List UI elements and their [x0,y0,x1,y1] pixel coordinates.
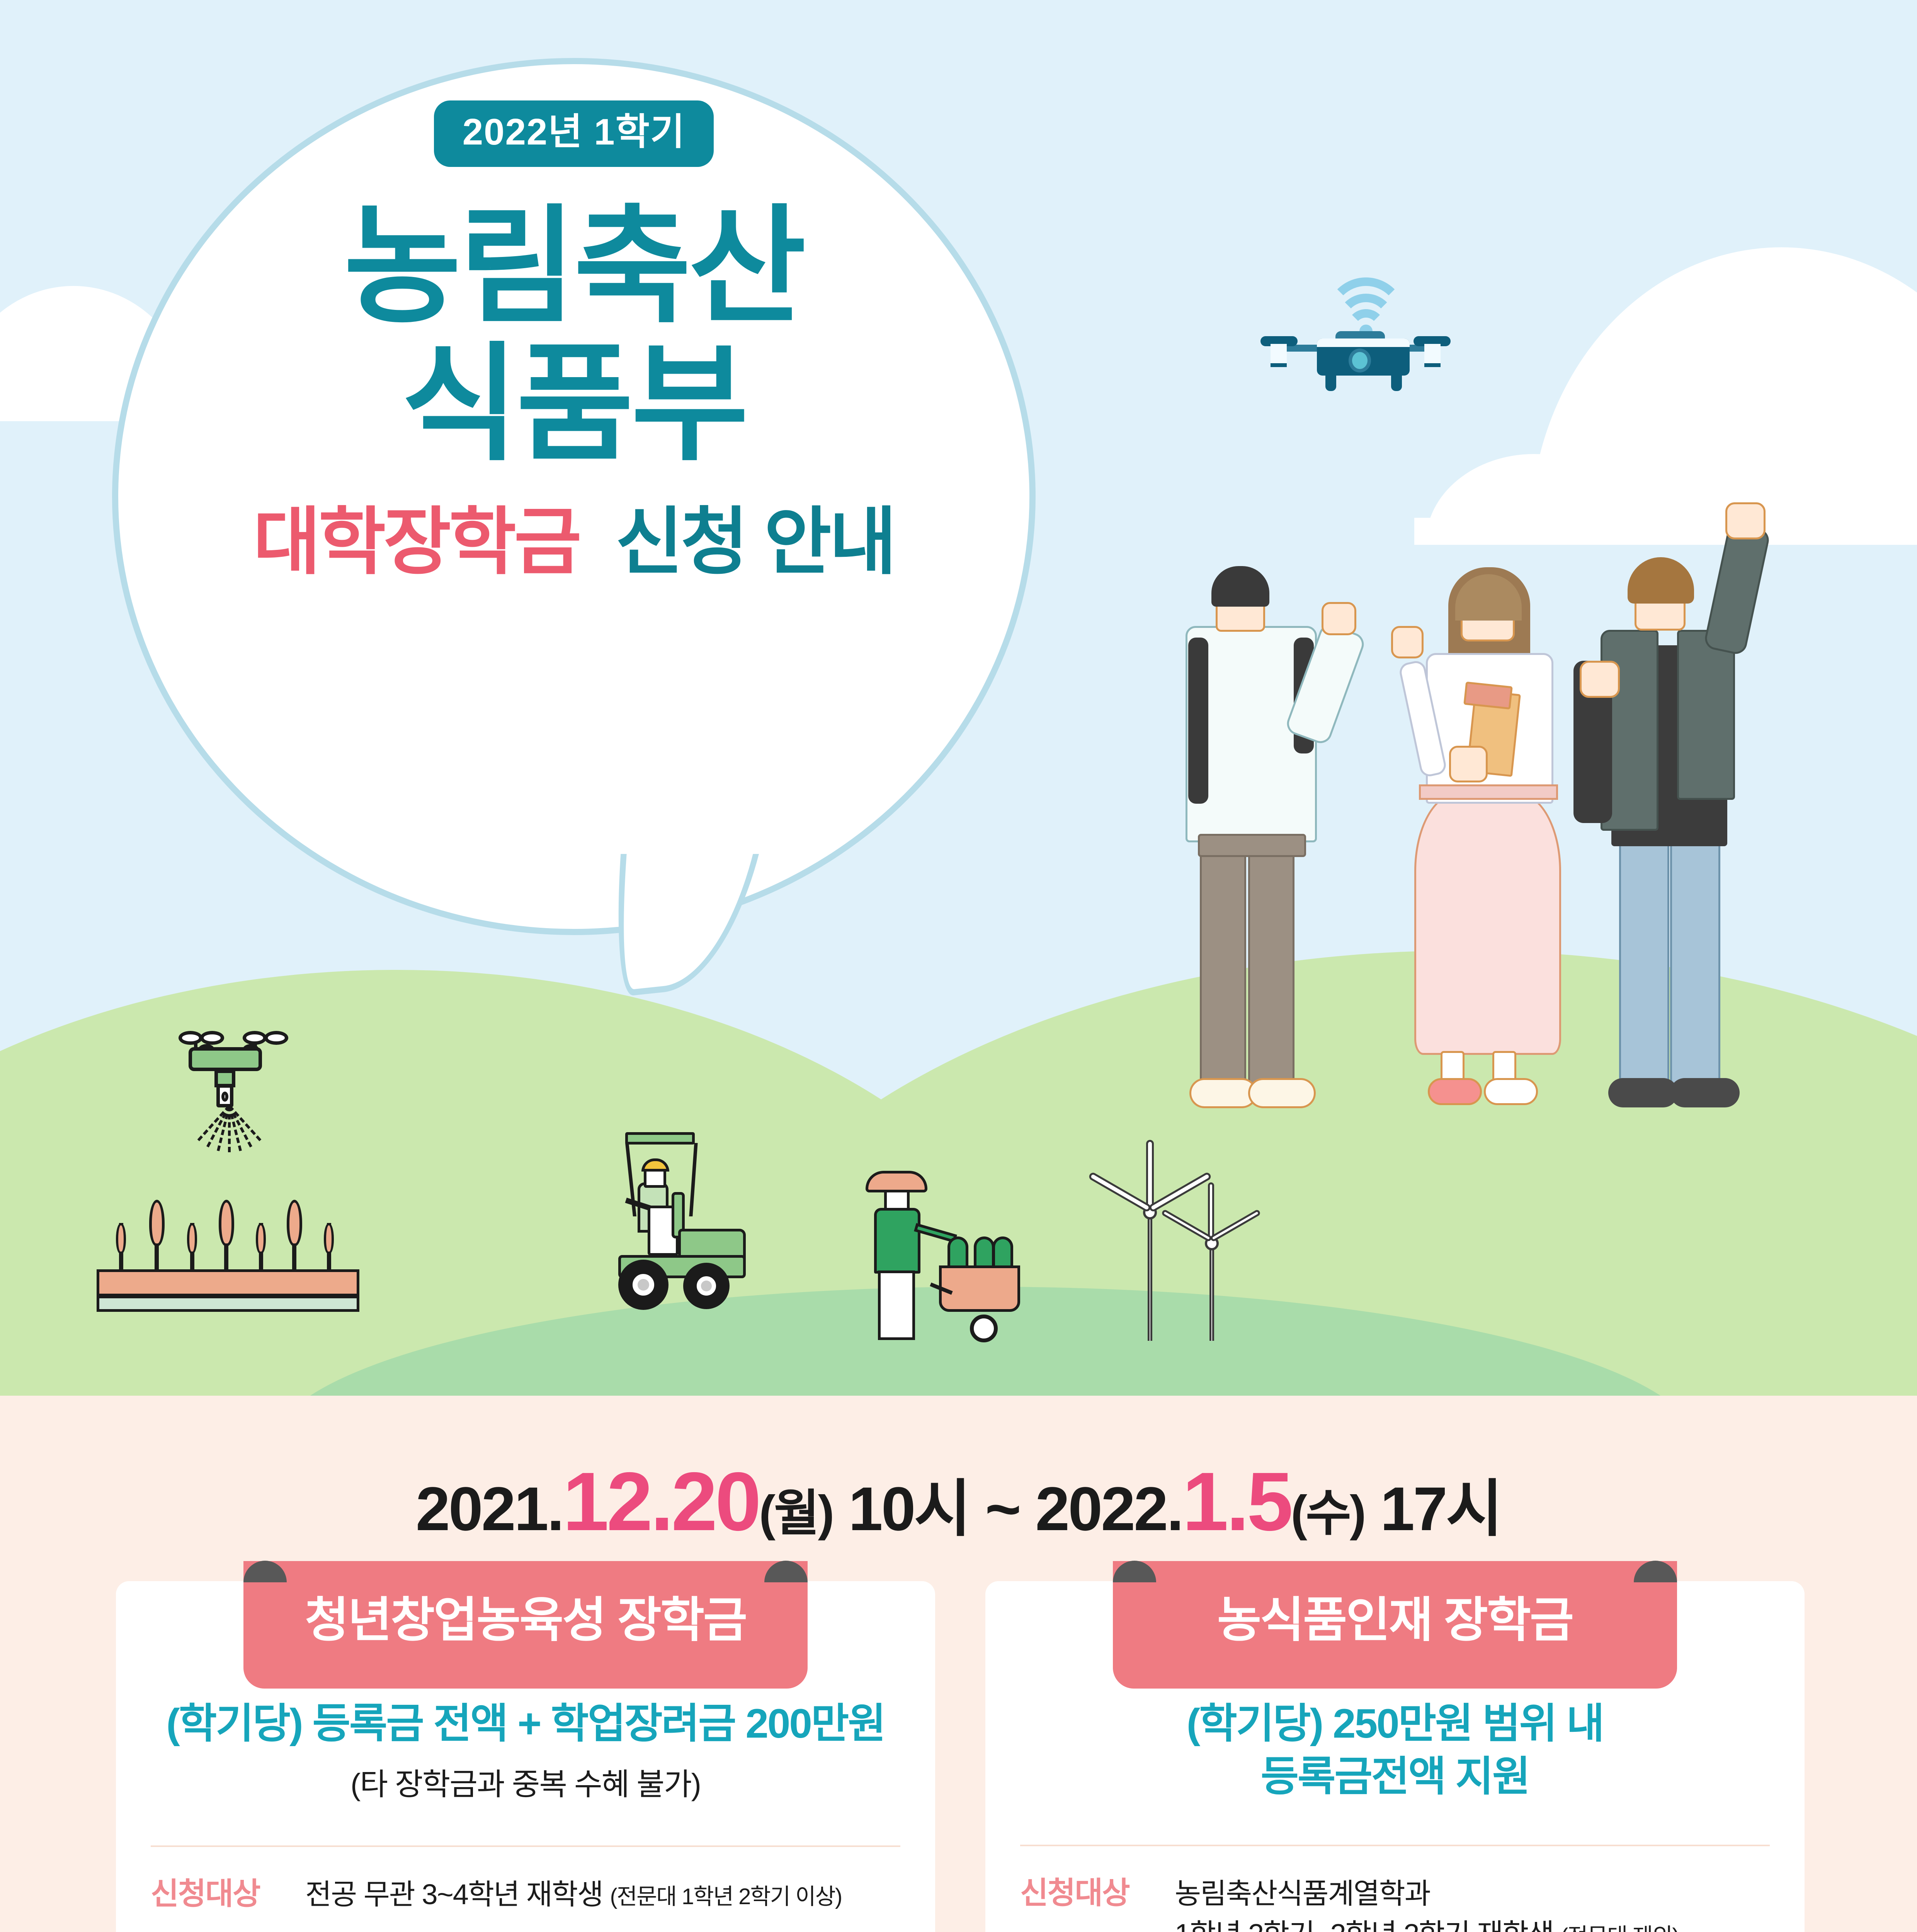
row-value-note: (전문대 1학년 2학기 이상) [610,1884,842,1909]
card-ribbon-title: 농식품인재 장학금 [1113,1561,1677,1689]
row-value-line2: 1학년 2학기~2학년 2학기 재학생 (전문대 제외) [1175,1914,1770,1932]
students-illustration [1121,498,1855,1345]
period-end-time: 17시 [1380,1474,1501,1543]
detail-row: 신청대상 농림축산식품계열학과 1학년 2학기~2학년 2학기 재학생 (전문대… [1020,1873,1770,1932]
title-line-2: 식품부 [112,335,1036,473]
detail-row: 신청대상 전공 무관 3~4학년 재학생 (전문대 1학년 2학기 이상) [151,1874,900,1915]
farmer-with-wheelbarrow-icon [842,1171,1043,1345]
card-amount-note: (타 장학금과 중복 수혜 불가) [151,1759,900,1804]
poster-root: 2022년 1학기 농림축산 식품부 대학장학금 신청 안내 2021.12.2… [0,0,1917,1932]
period-end-date: 1.5 [1182,1455,1291,1548]
card-amount: (학기당) 등록금 전액 + 학업장려금 200만원 [151,1697,900,1750]
spray-drone-icon [143,1009,309,1155]
row-value-text: 농림축산식품계열학과 [1175,1873,1770,1914]
page-subtitle: 대학장학금 신청 안내 [112,502,1036,583]
divider [151,1845,900,1847]
card-detail-rows: 신청대상 농림축산식품계열학과 1학년 2학기~2학년 2학기 재학생 (전문대… [1020,1873,1770,1932]
card-ribbon-title: 청년창업농육성 장학금 [243,1561,808,1689]
tractor-icon [580,1132,765,1314]
hero-illustration-area: 2022년 1학기 농림축산 식품부 대학장학금 신청 안내 [0,0,1917,1396]
period-start-date: 12.20 [563,1455,759,1548]
period-end-year: 2022. [1035,1474,1182,1543]
row-value-line2-text: 1학년 2학기~2학년 2학기 재학생 [1175,1918,1553,1932]
divider [1020,1845,1770,1846]
hero-text-block: 2022년 1학기 농림축산 식품부 대학장학금 신청 안내 [112,100,1036,583]
period-start-year: 2021. [416,1474,563,1543]
period-start-day: (월) [759,1486,833,1541]
period-end-day: (수) [1291,1486,1365,1541]
row-label-eligible-target: 신청대상 [1020,1873,1156,1913]
page-title: 농림축산 식품부 [112,198,1036,473]
info-section: 2021.12.20(월) 10시 ~ 2022.1.5(수) 17시 청년창업… [0,1396,1917,1932]
scholarship-cards: 청년창업농육성 장학금 (학기당) 등록금 전액 + 학업장려금 200만원 (… [116,1581,1805,1932]
row-value: 전공 무관 3~4학년 재학생 (전문대 1학년 2학기 이상) [305,1874,900,1915]
period-separator: ~ [985,1474,1019,1543]
card-detail-rows: 신청대상 전공 무관 3~4학년 재학생 (전문대 1학년 2학기 이상) 신청… [151,1874,900,1932]
subtitle-highlight: 대학장학금 [253,501,579,583]
drone-icon [1248,263,1465,379]
application-period: 2021.12.20(월) 10시 ~ 2022.1.5(수) 17시 [0,1454,1917,1549]
card-amount: (학기당) 250만원 범위 내 등록금전액 지원 [1020,1697,1770,1803]
row-value: 농림축산식품계열학과 1학년 2학기~2학년 2학기 재학생 (전문대 제외) [1175,1873,1770,1932]
row-value-note: (전문대 제외) [1561,1924,1679,1932]
title-line-1: 농림축산 [112,198,1036,335]
row-label-eligible-target: 신청대상 [151,1874,287,1914]
subtitle-rest: 신청 안내 [616,501,895,583]
scholarship-card-agrifood-talent: 농식품인재 장학금 (학기당) 250만원 범위 내 등록금전액 지원 신청대상… [985,1581,1805,1932]
row-value-text: 전공 무관 3~4학년 재학생 [305,1878,603,1910]
scholarship-card-youth-farmer: 청년창업농육성 장학금 (학기당) 등록금 전액 + 학업장려금 200만원 (… [116,1581,935,1932]
semester-badge: 2022년 1학기 [434,100,714,167]
wheat-field-icon [97,1196,359,1316]
period-start-time: 10시 [849,1474,970,1543]
